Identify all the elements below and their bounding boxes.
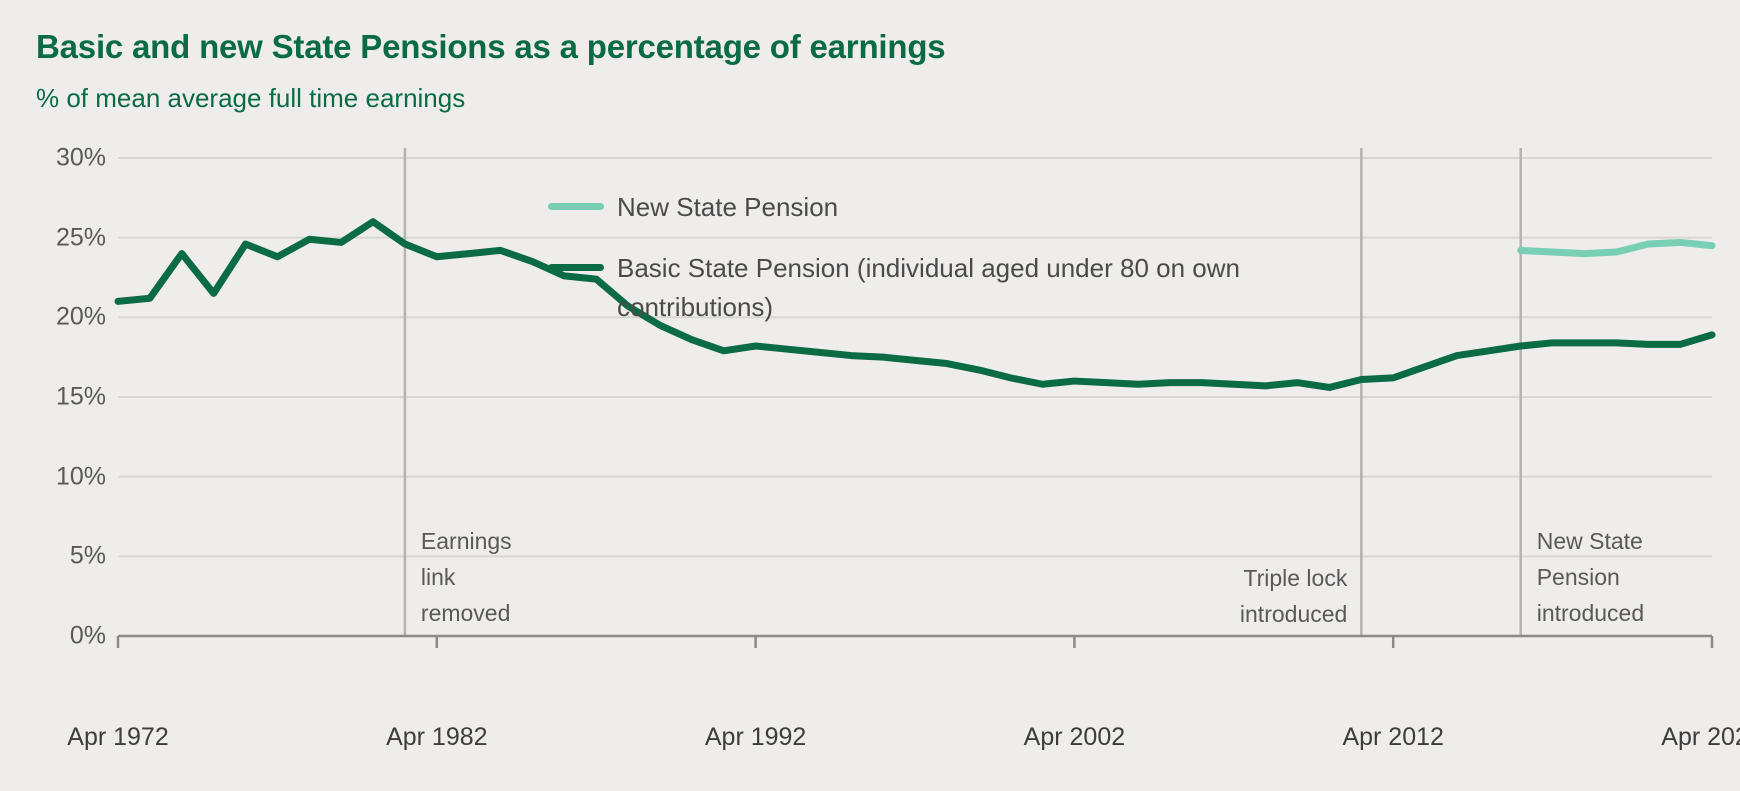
x-axis-tick-label: Apr 1972: [67, 723, 168, 752]
y-axis-tick-label: 20%: [56, 303, 106, 332]
x-axis-tick-label: Apr 1982: [386, 723, 487, 752]
y-axis-tick-label: 0%: [70, 622, 106, 651]
legend-swatch-icon: [548, 264, 604, 271]
x-axis-tick-label: Apr 1992: [705, 723, 806, 752]
x-axis-tick-label: Apr 2012: [1342, 723, 1443, 752]
chart-page: Basic and new State Pensions as a percen…: [0, 0, 1740, 791]
annotation-new-state-pension-introduced: New State Pension introduced: [1537, 523, 1644, 631]
annotation-earnings-link-removed: Earnings link removed: [421, 523, 512, 631]
annotation-triple-lock-introduced: Triple lock introduced: [1240, 560, 1347, 632]
y-axis-tick-label: 30%: [56, 144, 106, 173]
y-axis-tick-label: 15%: [56, 383, 106, 412]
y-axis-tick-label: 5%: [70, 542, 106, 571]
legend-item-label: New State Pension: [617, 188, 838, 227]
y-axis-labels: 0%5%10%15%20%25%30%: [0, 0, 106, 791]
x-axis-tick-label: Apr 2022: [1661, 723, 1740, 752]
series-line: [1521, 242, 1712, 253]
line-chart: [0, 0, 1740, 791]
legend-swatch-icon: [548, 203, 604, 210]
legend-item-label: Basic State Pension (individual aged und…: [617, 249, 1257, 327]
legend-item[interactable]: Basic State Pension (individual aged und…: [548, 249, 1257, 327]
y-axis-tick-label: 10%: [56, 462, 106, 491]
x-axis-tick-label: Apr 2002: [1024, 723, 1125, 752]
y-axis-tick-label: 25%: [56, 223, 106, 252]
legend-item[interactable]: New State Pension: [548, 188, 838, 227]
